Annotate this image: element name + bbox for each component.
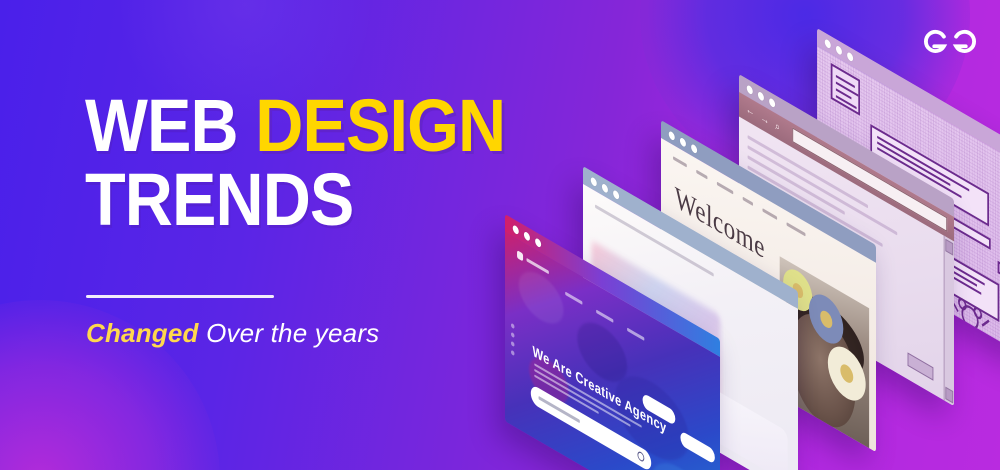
subtitle: Changed Over the years	[86, 318, 379, 349]
traffic-dot-icon	[513, 224, 519, 235]
cta-button-secondary[interactable]	[680, 430, 714, 465]
traffic-dot-icon	[591, 176, 597, 187]
traffic-dot-icon	[747, 84, 753, 95]
traffic-dot-icon	[524, 230, 530, 241]
social-rail[interactable]	[511, 323, 514, 356]
headline-divider	[86, 295, 274, 298]
scroll-down-arrow-icon[interactable]	[945, 387, 953, 404]
scroll-up-arrow-icon[interactable]	[945, 239, 953, 256]
traffic-dot-icon	[613, 189, 619, 200]
subtitle-rest: Over the years	[206, 318, 379, 348]
headline-line-1: WEB DESIGN	[85, 92, 472, 160]
traffic-dot-icon	[758, 90, 764, 101]
search-icon[interactable]	[637, 450, 644, 463]
traffic-dot-icon	[847, 51, 853, 62]
scrollbar[interactable]	[944, 236, 954, 407]
traffic-dot-icon	[669, 130, 675, 141]
subtitle-highlight: Changed	[86, 318, 199, 348]
pixel-card	[831, 63, 860, 116]
legacy-button[interactable]	[908, 352, 934, 380]
traffic-dot-icon	[680, 136, 686, 147]
traffic-dot-icon	[691, 143, 697, 154]
forward-arrow-icon[interactable]: →	[761, 111, 770, 128]
headline-line-2: TRENDS	[85, 166, 472, 234]
headline-design: DESIGN	[255, 84, 505, 167]
poster-canvas: WEB DESIGN TRENDS Changed Over the years	[0, 0, 1000, 470]
traffic-dot-icon	[836, 44, 842, 55]
browser-window-stack: ✦ ← →	[505, 28, 1000, 448]
headline-block: WEB DESIGN TRENDS	[85, 92, 515, 234]
traffic-dot-icon	[825, 38, 831, 49]
back-arrow-icon[interactable]: ←	[746, 102, 755, 119]
traffic-dot-icon	[535, 237, 541, 248]
decor-blob	[519, 262, 564, 333]
traffic-dot-icon	[769, 97, 775, 108]
headline-web: WEB	[85, 84, 238, 167]
traffic-dot-icon	[602, 182, 608, 193]
search-icon[interactable]: ⌕	[775, 119, 780, 134]
